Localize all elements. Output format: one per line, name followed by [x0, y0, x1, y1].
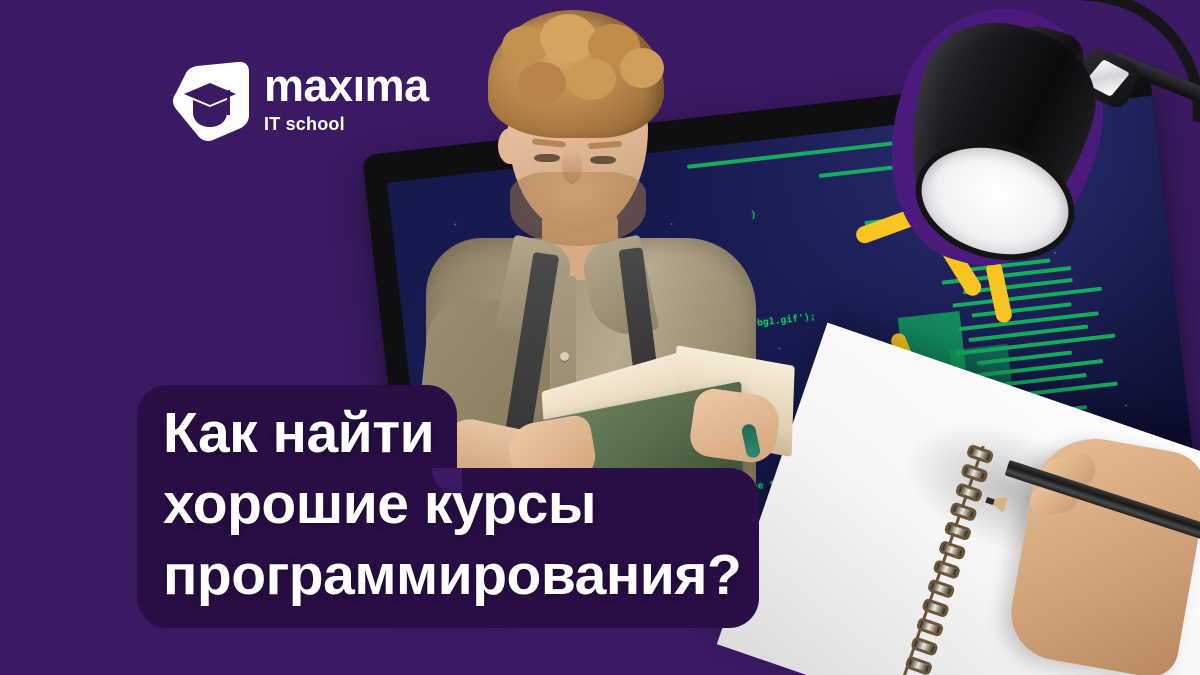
person-nose — [562, 150, 582, 184]
headline-line-2: хорошие курсы — [163, 469, 763, 540]
person-eye — [534, 154, 560, 162]
brand-logo-text: maxıma IT school — [264, 63, 429, 135]
headline-line-1: Как найти — [163, 398, 763, 469]
person-beard — [510, 172, 646, 246]
shirt-button — [560, 352, 569, 361]
brand-tagline: IT school — [264, 113, 429, 135]
person-hair — [488, 10, 664, 138]
graduation-cap-pentagon-icon — [168, 57, 252, 143]
banner-canvas: { fu ) d( ound-image:url('/pix/samples/b… — [0, 0, 1200, 675]
headline-line-3: программирования? — [163, 540, 763, 611]
page-title: Как найти хорошие курсы программирования… — [163, 398, 763, 611]
person-eye — [590, 156, 616, 164]
brand-wordmark: maxıma — [264, 63, 429, 109]
brand-logo[interactable]: maxıma IT school — [168, 57, 414, 145]
